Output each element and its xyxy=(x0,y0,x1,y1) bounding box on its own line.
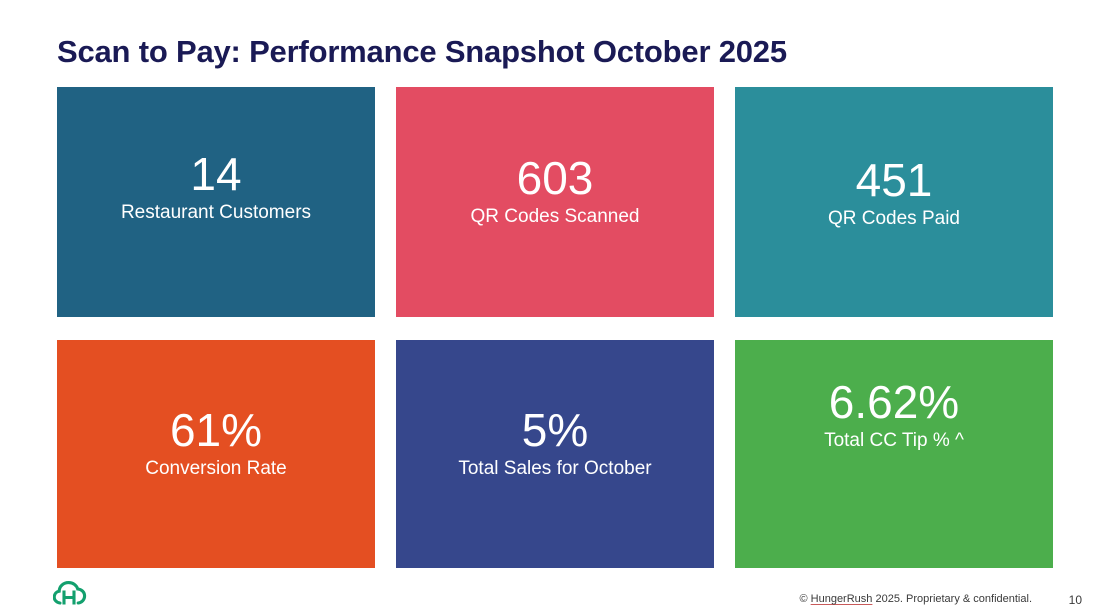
kpi-value: 14 xyxy=(190,151,241,198)
kpi-label: Total CC Tip % ^ xyxy=(824,430,964,453)
kpi-tile-grid: 14 Restaurant Customers 603 QR Codes Sca… xyxy=(57,87,1056,568)
kpi-value: 451 xyxy=(856,157,933,204)
footer-brand-name: HungerRush xyxy=(811,593,873,605)
kpi-label: Conversion Rate xyxy=(145,458,287,481)
cloud-h-logo-icon xyxy=(53,578,87,608)
footer-copyright: © HungerRush 2025. Proprietary & confide… xyxy=(799,593,1032,605)
kpi-tile-conversion-rate[interactable]: 61% Conversion Rate xyxy=(57,340,375,568)
footer-copyright-suffix: 2025. Proprietary & confidential. xyxy=(872,593,1032,605)
kpi-tile-qr-codes-paid[interactable]: 451 QR Codes Paid xyxy=(735,87,1053,317)
kpi-label: QR Codes Scanned xyxy=(471,206,640,229)
kpi-tile-qr-codes-scanned[interactable]: 603 QR Codes Scanned xyxy=(396,87,714,317)
kpi-tile-total-cc-tip-percent[interactable]: 6.62% Total CC Tip % ^ xyxy=(735,340,1053,568)
kpi-tile-total-sales-for-october[interactable]: 5% Total Sales for October xyxy=(396,340,714,568)
page-title: Scan to Pay: Performance Snapshot Octobe… xyxy=(57,34,787,70)
kpi-value: 6.62% xyxy=(829,379,959,426)
kpi-tile-restaurant-customers[interactable]: 14 Restaurant Customers xyxy=(57,87,375,317)
footer-copyright-prefix: © xyxy=(799,593,810,605)
kpi-value: 61% xyxy=(170,407,262,454)
slide-canvas: Scan to Pay: Performance Snapshot Octobe… xyxy=(0,0,1100,613)
kpi-label: Total Sales for October xyxy=(458,458,651,481)
kpi-label: QR Codes Paid xyxy=(828,208,960,231)
kpi-label: Restaurant Customers xyxy=(121,202,311,225)
kpi-value: 5% xyxy=(522,407,588,454)
page-number: 10 xyxy=(1069,593,1082,607)
kpi-value: 603 xyxy=(517,155,594,202)
